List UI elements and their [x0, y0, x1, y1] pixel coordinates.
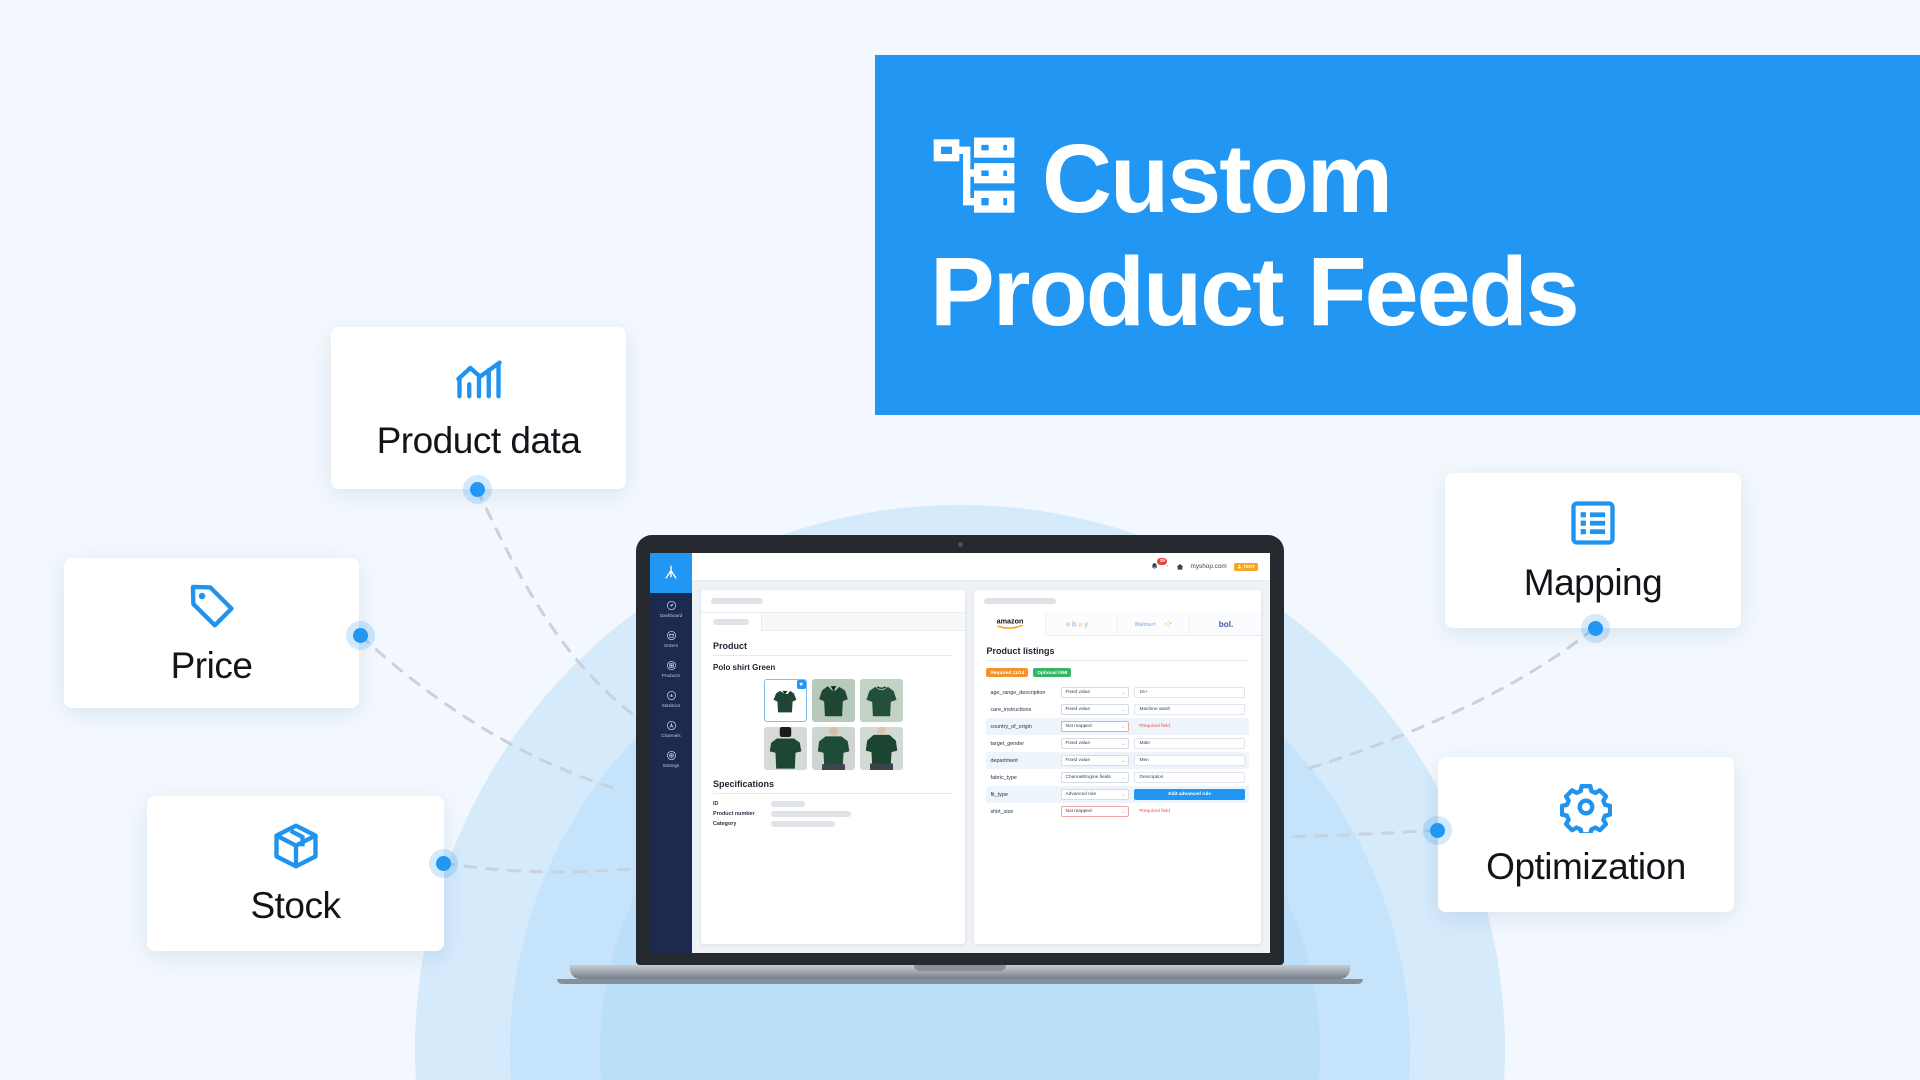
polo-shirt-model-image	[764, 727, 807, 770]
list-grid-icon	[1567, 497, 1619, 554]
sidebar-item-label: Dashboard	[660, 613, 682, 618]
chevron-down-icon: ⌄	[1121, 809, 1125, 815]
tab-placeholder-bar	[713, 619, 749, 625]
product-thumbnail[interactable]	[812, 727, 855, 770]
mapping-value-input[interactable]: 16+	[1134, 687, 1245, 698]
home-icon	[1176, 558, 1184, 576]
product-tabstrip	[701, 612, 965, 631]
polo-shirt-model-image	[812, 727, 855, 770]
product-heading: Product	[713, 641, 953, 656]
svg-text:e: e	[1066, 619, 1070, 628]
feature-card-price[interactable]: Price	[64, 558, 359, 708]
specifications-heading: Specifications	[713, 779, 953, 794]
chevron-down-icon: ⌄	[1121, 724, 1125, 730]
connector-dot-product-data	[470, 482, 485, 497]
mapping-type-select[interactable]: Advanced rule ⌄	[1061, 789, 1129, 800]
app-sidebar: Dashboard Orders Products	[650, 553, 692, 953]
product-tab-active[interactable]	[701, 613, 762, 631]
connector-dot-stock	[436, 856, 451, 871]
sidebar-item-products[interactable]: Products	[650, 653, 692, 683]
notification-bell-icon[interactable]: 39	[1150, 562, 1159, 571]
mapping-type-select[interactable]: Fixed value ⌄	[1061, 738, 1129, 749]
mapping-type-value: Not mapped	[1065, 809, 1091, 814]
app-main: 39 • myshop.com TEST	[692, 553, 1270, 953]
ebay-logo-icon: e b a y	[1064, 617, 1100, 631]
mapping-field-name: country_of_origin	[990, 724, 1056, 730]
laptop-notch	[914, 965, 1006, 971]
feature-card-mapping[interactable]: Mapping	[1445, 473, 1741, 628]
mapping-field-name: age_range_description	[990, 690, 1056, 696]
mapping-type-select[interactable]: Not mapped ⌄	[1061, 806, 1129, 817]
mapping-row: age_range_description Fixed value ⌄ 16+	[986, 684, 1249, 701]
feature-card-product-data[interactable]: Product data	[331, 327, 626, 489]
feature-card-stock[interactable]: Stock	[147, 796, 444, 951]
mapping-type-select[interactable]: Fixed value ⌄	[1061, 755, 1129, 766]
edit-advanced-rule-button[interactable]: Edit advanced rule	[1134, 789, 1245, 800]
svg-text:amazon: amazon	[997, 617, 1024, 626]
laptop-foot	[557, 979, 1363, 984]
feature-card-label: Optimization	[1486, 846, 1686, 888]
topbar-separator: •	[1166, 564, 1168, 570]
webcam-icon	[958, 542, 963, 547]
amazon-logo-icon: amazon	[990, 616, 1030, 631]
sidebar-item-statistics[interactable]: Statistics	[650, 683, 692, 713]
app-logo[interactable]	[650, 553, 692, 593]
product-image-gallery: ★	[713, 679, 953, 770]
mapping-type-select[interactable]: Not mapped ⌄	[1061, 721, 1129, 732]
shop-name-label: myshop.com	[1191, 563, 1227, 570]
price-tag-icon	[186, 580, 238, 637]
mapping-field-name: care_instructions	[990, 707, 1056, 713]
mapping-type-value: Fixed value	[1065, 707, 1090, 712]
channel-tab-walmart[interactable]: Walmart	[1118, 612, 1190, 635]
mapping-type-value: ChannelEngine fields	[1065, 775, 1110, 780]
listings-heading: Product listings	[986, 646, 1249, 661]
header-placeholder-bar	[711, 598, 763, 604]
mapping-field-name: target_gender	[990, 741, 1056, 747]
svg-text:b: b	[1072, 619, 1077, 628]
mapping-row: country_of_origin Not mapped ⌄ *Required…	[986, 718, 1249, 735]
sidebar-item-label: Products	[662, 673, 680, 678]
polo-shirt-image	[860, 679, 903, 722]
mapping-value-input[interactable]: Male	[1134, 738, 1245, 749]
sitemap-icon	[930, 132, 1018, 225]
mapping-field-name: fabric_type	[990, 775, 1056, 781]
laptop-base	[570, 965, 1350, 979]
channel-tab-amazon[interactable]: amazon	[974, 612, 1046, 636]
spec-value-placeholder	[771, 821, 835, 827]
bol-logo-icon: bol.	[1211, 617, 1241, 631]
mapping-row: fabric_type ChannelEngine fields ⌄ Descr…	[986, 769, 1249, 786]
sidebar-item-label: Settings	[663, 763, 680, 768]
chevron-down-icon: ⌄	[1121, 792, 1125, 798]
bar-chart-growth-icon	[453, 355, 505, 412]
sidebar-item-channels[interactable]: Channels	[650, 713, 692, 743]
chevron-down-icon: ⌄	[1121, 707, 1125, 713]
svg-text:Walmart: Walmart	[1134, 622, 1155, 628]
mapping-type-select[interactable]: Fixed value ⌄	[1061, 704, 1129, 715]
mapping-field-name: department	[990, 758, 1056, 764]
listings-panel: amazon e b a y	[974, 590, 1261, 944]
product-panel-header	[701, 590, 965, 612]
product-thumbnail[interactable]	[764, 727, 807, 770]
chevron-down-icon: ⌄	[1121, 775, 1125, 781]
feature-card-optimization[interactable]: Optimization	[1438, 757, 1734, 912]
mapping-row: target_gender Fixed value ⌄ Male	[986, 735, 1249, 752]
required-count-badge: Required 11/14	[986, 668, 1028, 677]
svg-text:bol.: bol.	[1218, 620, 1232, 629]
feature-card-label: Mapping	[1524, 562, 1662, 604]
sidebar-item-label: Statistics	[662, 703, 681, 708]
primary-image-star-icon: ★	[797, 680, 806, 689]
optional-count-badge: Optional 0/58	[1033, 668, 1071, 677]
sidebar-item-dashboard[interactable]: Dashboard	[650, 593, 692, 623]
walmart-logo-icon: Walmart	[1133, 617, 1175, 630]
channel-tabs: amazon e b a y	[974, 612, 1261, 636]
product-thumbnail[interactable]	[812, 679, 855, 722]
app-screen: Dashboard Orders Products	[650, 553, 1270, 953]
mapping-row: care_instructions Fixed value ⌄ Machine …	[986, 701, 1249, 718]
feature-card-label: Price	[171, 645, 253, 687]
gear-icon	[1560, 781, 1612, 838]
test-badge-label: TEST	[1243, 564, 1255, 569]
channel-tab-bol[interactable]: bol.	[1190, 612, 1261, 635]
connector-dot-price	[353, 628, 368, 643]
box-package-icon	[270, 820, 322, 877]
mapping-row: department Fixed value ⌄ Men	[986, 752, 1249, 769]
mapping-type-select[interactable]: ChannelEngine fields ⌄	[1061, 772, 1129, 783]
listings-panel-header	[974, 590, 1261, 612]
laptop-mockup: Dashboard Orders Products	[636, 535, 1363, 984]
spec-key: ID	[713, 801, 771, 807]
header-placeholder-bar	[984, 598, 1056, 604]
app-topbar: 39 • myshop.com TEST	[692, 553, 1270, 581]
product-name: Polo shirt Green	[713, 663, 953, 672]
spec-row: ID	[713, 801, 953, 807]
mapping-type-value: Fixed value	[1065, 741, 1090, 746]
spec-row: Product number	[713, 811, 953, 817]
mapping-row: fit_type Advanced rule ⌄ Edit advanced r…	[986, 786, 1249, 803]
banner-title-line2: Product Feeds	[930, 235, 1578, 348]
app-body: Product Polo shirt Green	[692, 581, 1270, 953]
mapping-value-input[interactable]: Men	[1134, 755, 1245, 766]
notification-count-badge: 39	[1157, 558, 1167, 565]
test-mode-badge: TEST	[1234, 563, 1258, 571]
mapping-row: shirt_size Not mapped ⌄ *Required field	[986, 803, 1249, 820]
channel-tab-ebay[interactable]: e b a y	[1046, 612, 1118, 635]
chevron-down-icon: ⌄	[1121, 758, 1125, 764]
mapping-badges: Required 11/14 Optional 0/58	[986, 668, 1249, 677]
feature-card-label: Product data	[377, 420, 581, 462]
specifications-section: Specifications ID Product number	[713, 779, 953, 827]
listings-content: Product listings Required 11/14 Optional…	[974, 636, 1261, 944]
mapping-table: age_range_description Fixed value ⌄ 16+ …	[986, 684, 1249, 820]
banner-title-line1: Custom	[1042, 122, 1391, 235]
sidebar-item-orders[interactable]: Orders	[650, 623, 692, 653]
product-thumbnail[interactable]	[860, 679, 903, 722]
polo-shirt-image	[812, 679, 855, 722]
required-field-warning: *Required field	[1134, 806, 1245, 817]
spec-value-placeholder	[771, 811, 851, 817]
mapping-value-input[interactable]: Machine wash	[1134, 704, 1245, 715]
sidebar-item-settings[interactable]: Settings	[650, 743, 692, 773]
connector-dot-optimization	[1430, 823, 1445, 838]
chevron-down-icon: ⌄	[1121, 741, 1125, 747]
product-thumbnail-primary[interactable]: ★	[764, 679, 807, 722]
sidebar-item-label: Orders	[664, 643, 678, 648]
spec-key: Category	[713, 821, 771, 827]
mapping-type-value: Fixed value	[1065, 690, 1090, 695]
sidebar-item-label: Channels	[661, 733, 680, 738]
product-thumbnail[interactable]	[860, 727, 903, 770]
mapping-field-name: shirt_size	[990, 809, 1056, 815]
spec-value-placeholder	[771, 801, 805, 807]
feature-card-label: Stock	[250, 885, 340, 927]
laptop-lid: Dashboard Orders Products	[636, 535, 1284, 965]
spec-row: Category	[713, 821, 953, 827]
svg-text:y: y	[1084, 619, 1089, 628]
connector-dot-mapping	[1588, 621, 1603, 636]
mapping-type-value: Not mapped	[1065, 724, 1091, 729]
mapping-type-value: Advanced rule	[1065, 792, 1096, 797]
mapping-value-input[interactable]: Description	[1134, 772, 1245, 783]
mapping-type-select[interactable]: Fixed value ⌄	[1061, 687, 1129, 698]
product-panel: Product Polo shirt Green	[701, 590, 965, 944]
chevron-down-icon: ⌄	[1121, 690, 1125, 696]
svg-text:a: a	[1078, 619, 1083, 628]
polo-shirt-back-image	[860, 727, 903, 770]
mapping-type-value: Fixed value	[1065, 758, 1090, 763]
title-banner: Custom Product Feeds	[875, 55, 1920, 415]
spec-key: Product number	[713, 811, 771, 817]
mapping-field-name: fit_type	[990, 792, 1056, 798]
product-panel-content: Product Polo shirt Green	[701, 631, 965, 944]
required-field-warning: *Required field	[1134, 721, 1245, 732]
